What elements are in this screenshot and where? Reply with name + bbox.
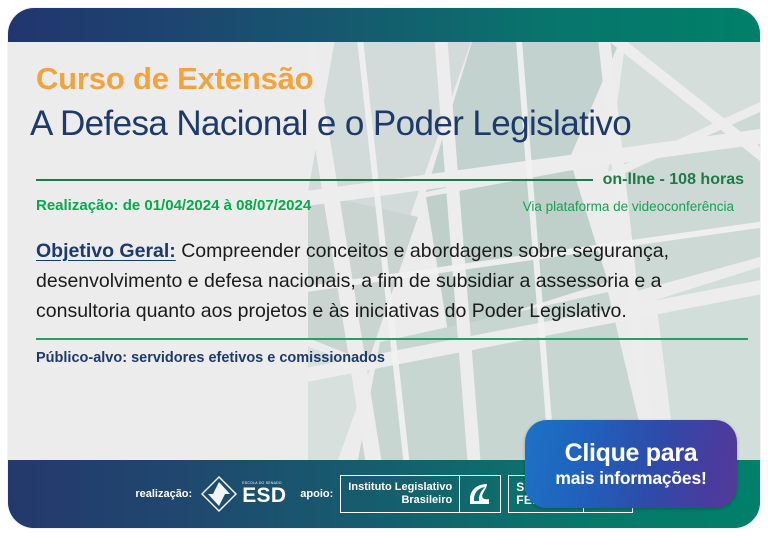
course-title: A Defesa Nacional e o Poder Legislativo — [30, 104, 631, 144]
ilb-line1: Instituto Legislativo — [348, 481, 452, 494]
banner-content: Curso de Extensão A Defesa Nacional e o … — [8, 42, 760, 460]
esd-logo[interactable]: ESCOLA DO SENADO ESD — [199, 474, 286, 514]
banner-card: Curso de Extensão A Defesa Nacional e o … — [8, 8, 760, 528]
realizacao-label: realização: — [135, 488, 192, 500]
apoio-label: apoio: — [300, 488, 333, 500]
target-audience: Público-alvo: servidores efetivos e comi… — [36, 350, 385, 366]
esd-wordmark: ESCOLA DO SENADO ESD — [242, 482, 286, 506]
course-kicker: Curso de Extensão — [36, 61, 313, 97]
course-modality: on-lIne - 108 horas — [603, 171, 748, 189]
course-banner: Curso de Extensão A Defesa Nacional e o … — [0, 0, 768, 536]
esd-acronym: ESD — [242, 485, 286, 506]
ilb-line2: Brasileiro — [401, 494, 452, 507]
ilb-mark — [459, 476, 500, 512]
diamond-icon — [199, 474, 239, 514]
cta-line2: mais informações! — [555, 467, 706, 489]
course-objective: Objetivo Geral: Compreender conceitos e … — [36, 236, 738, 326]
modality-rule-row: on-lIne - 108 horas — [36, 171, 748, 189]
esd-subtitle: ESCOLA DO SENADO — [242, 482, 282, 486]
course-dates: Realização: de 01/04/2024 à 08/07/2024 — [36, 197, 311, 214]
cta-line1: Clique para — [565, 439, 698, 467]
divider-line-secondary — [36, 338, 748, 340]
objective-label: Objetivo Geral: — [36, 240, 176, 262]
top-gradient-bar — [8, 8, 760, 42]
more-info-button[interactable]: Clique para mais informações! — [525, 420, 737, 508]
ilb-wordmark: Instituto Legislativo Brasileiro — [341, 476, 459, 512]
realizacao-group: realização: ESCOLA DO SENADO ESD — [135, 474, 286, 514]
ilb-logo[interactable]: Instituto Legislativo Brasileiro — [340, 475, 501, 513]
helmet-icon — [465, 479, 495, 509]
course-platform: Via plataforma de videoconferência — [523, 199, 734, 214]
divider-line — [36, 179, 593, 181]
